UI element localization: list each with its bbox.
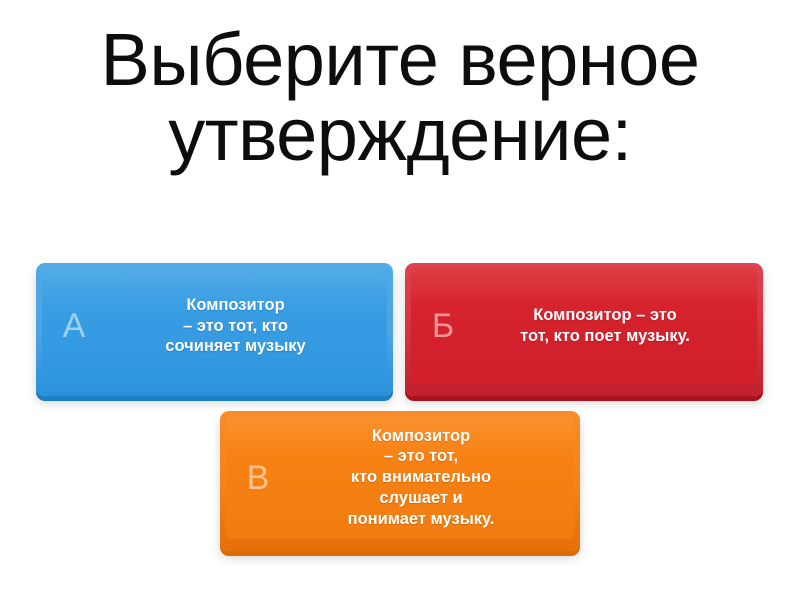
answer-option-a-panel: А Композитор – это тот, кто сочиняет муз… xyxy=(42,268,387,384)
answer-options-group: А Композитор – это тот, кто сочиняет муз… xyxy=(0,0,800,600)
answer-option-a-letter: А xyxy=(42,309,106,343)
answer-option-a-label: Композитор – это тот, кто сочиняет музык… xyxy=(106,295,387,357)
answer-option-c-letter: В xyxy=(226,461,290,495)
answer-option-c[interactable]: В Композитор – это тот, кто внимательно … xyxy=(220,411,580,551)
answer-option-b-label: Композитор – это тот, кто поет музыку. xyxy=(475,305,757,347)
quiz-stage: Выберите верное утверждение: А Композито… xyxy=(0,0,800,600)
answer-option-c-panel: В Композитор – это тот, кто внимательно … xyxy=(226,416,574,539)
answer-option-b-panel: Б Композитор – это тот, кто поет музыку. xyxy=(411,268,757,384)
answer-option-b[interactable]: Б Композитор – это тот, кто поет музыку. xyxy=(405,263,763,396)
answer-option-c-label: Композитор – это тот, кто внимательно сл… xyxy=(290,426,574,530)
answer-option-b-letter: Б xyxy=(411,309,475,343)
answer-option-a[interactable]: А Композитор – это тот, кто сочиняет муз… xyxy=(36,263,393,396)
